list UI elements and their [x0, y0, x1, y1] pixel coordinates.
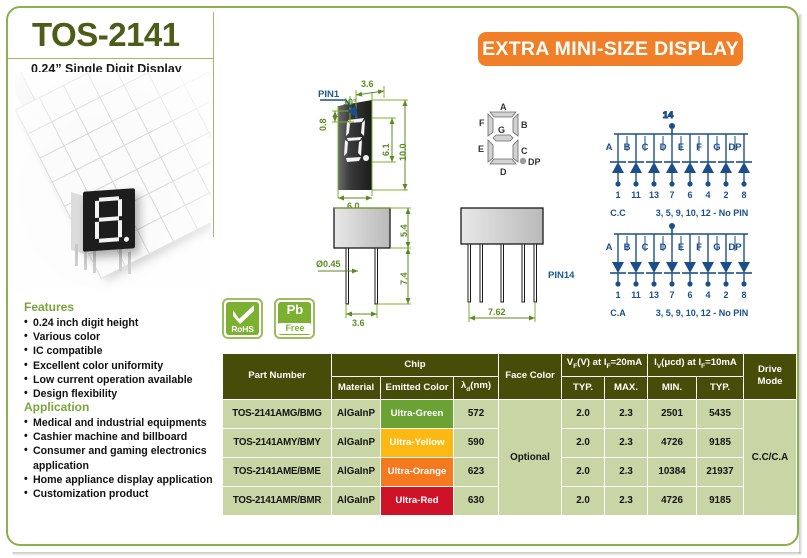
th-emitted-color: Emitted Color — [381, 377, 453, 399]
schematic-segment-label: A — [606, 142, 613, 153]
schematic-segment-label: B — [624, 242, 631, 253]
schematic-segment-label: B — [624, 142, 631, 153]
dim-5-4: 5.4 — [399, 224, 409, 237]
schematic-segment-label: F — [696, 242, 702, 253]
cell-part-number: TOS-2141AMR/BMR — [223, 487, 331, 515]
schematic-pin-number: 6 — [687, 290, 692, 300]
page-shadow-bottom — [12, 552, 801, 556]
schematic-pin-number: 11 — [631, 290, 641, 300]
schematic-pin-number: 7 — [669, 290, 674, 300]
schematic-segment-label: D — [660, 242, 667, 253]
list-item: IC compatible — [24, 344, 224, 358]
segment-label-e: E — [478, 144, 484, 154]
table-header-row-1: Part Number Chip Face Color VF(V) at IF=… — [223, 354, 796, 376]
title-divider-horizontal — [8, 58, 213, 59]
cell-vf-typ: 2.0 — [562, 487, 604, 515]
features-list: 0.24 inch digit height Various color IC … — [24, 316, 224, 401]
th-iv-min: MIN. — [648, 377, 696, 399]
dim-6-1: 6.1 — [381, 143, 391, 156]
schematic-pin-number: 13 — [649, 290, 659, 300]
schematic-pin-number: 11 — [631, 190, 641, 200]
segment-label-dp: DP — [528, 157, 541, 167]
schematic-mode-label: C.C — [610, 208, 626, 218]
cell-material: AlGaInP — [332, 458, 380, 486]
cell-part-number: TOS-2141AME/BME — [223, 458, 331, 486]
front-view: 3.6 0.8 6.1 10.0 6.0 PIN1 10° — [318, 79, 408, 211]
dim-3-6-top: 3.6 — [361, 79, 374, 89]
check-icon — [231, 305, 257, 324]
cell-material: AlGaInP — [332, 429, 380, 457]
schematic-segment-label: F — [696, 142, 702, 153]
cell-emitted-color: Ultra-Green — [381, 400, 453, 428]
schematic-pin-number: 4 — [705, 290, 710, 300]
list-item: application — [24, 459, 229, 473]
schematic-segment-label: DP — [728, 142, 742, 153]
schematic-pin-number: 7 — [669, 190, 674, 200]
cell-material: AlGaInP — [332, 487, 380, 515]
cell-vf-max: 2.3 — [605, 487, 647, 515]
schematic-common-anode: A1B11C13D7E6F4G2DP8C.A3, 5, 9, 10, 12 - … — [606, 223, 752, 318]
segment-label-g: G — [498, 125, 505, 135]
th-iv: IV(μcd) at IF=10mA — [648, 354, 743, 376]
schematic-pin-number: 1 — [615, 290, 620, 300]
pb-badge-top-label: Pb — [276, 303, 313, 316]
cc-common-pin: 14 — [663, 110, 674, 121]
page-shadow-right — [799, 14, 803, 554]
cell-iv-typ: 5435 — [697, 400, 743, 428]
specification-table: Part Number Chip Face Color VF(V) at IF=… — [222, 353, 786, 516]
cell-iv-typ: 21937 — [697, 458, 743, 486]
schematic-pin-number: 6 — [687, 190, 692, 200]
schematic-pin-number: 2 — [723, 290, 728, 300]
dim-angle-10: 10° — [343, 97, 357, 107]
th-vf: VF(V) at IF=20mA — [562, 354, 647, 376]
schematic-segment-label: E — [678, 142, 684, 153]
schematic-segment-label: C — [642, 142, 649, 153]
cell-iv-min: 10384 — [648, 458, 696, 486]
table-body: TOS-2141AMG/BMGAlGaInPUltra-Green572Opti… — [223, 400, 796, 515]
cell-emitted-color: Ultra-Red — [381, 487, 453, 515]
segment-label-c: C — [521, 146, 528, 156]
schematic-pin-number: 8 — [741, 190, 746, 200]
cell-emitted-color: Ultra-Orange — [381, 458, 453, 486]
th-drive-mode: Drive Mode — [744, 354, 796, 399]
cell-wavelength: 623 — [454, 458, 498, 486]
pb-free-badge: Pb Free — [274, 298, 315, 339]
schematic-no-pin-note: 3, 5, 9, 10, 12 - No PIN — [656, 308, 749, 318]
side-view: 5.4 7.4 Ø0.45 3.6 — [316, 208, 411, 328]
schematic-pin-number: 2 — [723, 190, 728, 200]
cell-vf-max: 2.3 — [605, 400, 647, 428]
schematic-segment-label: DP — [728, 242, 742, 253]
dim-3-6-pitch: 3.6 — [352, 318, 365, 328]
schematic-mode-label: C.A — [610, 308, 626, 318]
th-vf-typ: TYP. — [562, 377, 604, 399]
cell-iv-min: 4726 — [648, 487, 696, 515]
schematic-canvas: 14 A1B11C13D7E6F4G2DP8C.C3, 5, 9, 10, 12… — [592, 108, 797, 338]
cell-vf-max: 2.3 — [605, 429, 647, 457]
th-chip: Chip — [332, 354, 498, 376]
cell-wavelength: 630 — [454, 487, 498, 515]
cell-wavelength: 590 — [454, 429, 498, 457]
application-heading: Application — [24, 400, 229, 414]
cell-material: AlGaInP — [332, 400, 380, 428]
schematic-segment-label: A — [606, 242, 613, 253]
banner-label: EXTRA MINI-SIZE DISPLAY — [478, 32, 743, 66]
features-heading: Features — [24, 300, 224, 314]
pin14-label: PIN14 — [548, 270, 575, 281]
schematic-segment-label: C — [642, 242, 649, 253]
segment-map: A B C D E F G DP — [478, 102, 541, 177]
product-photo — [15, 72, 211, 294]
page-title: TOS-2141 — [32, 16, 180, 54]
cell-vf-typ: 2.0 — [562, 400, 604, 428]
schematic-segment-label: G — [713, 142, 720, 153]
dim-7-4: 7.4 — [399, 272, 409, 285]
dim-lead-diameter: Ø0.45 — [316, 259, 341, 269]
cell-iv-min: 2501 — [648, 400, 696, 428]
dim-7-62: 7.62 — [488, 307, 506, 317]
schematic-pin-number: 4 — [705, 190, 710, 200]
segment-label-d: D — [500, 167, 507, 177]
cell-face-color: Optional — [499, 400, 561, 515]
list-item: Customization product — [24, 487, 229, 501]
cell-iv-typ: 9185 — [697, 487, 743, 515]
dim-0-8: 0.8 — [318, 118, 328, 131]
list-item: Medical and industrial equipments — [24, 416, 229, 430]
bottom-view: PIN14 7.62 — [461, 208, 575, 322]
panel-divider-vertical — [213, 12, 214, 237]
cell-iv-min: 4726 — [648, 429, 696, 457]
product-banner: EXTRA MINI-SIZE DISPLAY — [478, 32, 743, 66]
schematic-pin-number: 1 — [615, 190, 620, 200]
th-iv-typ: TYP. — [697, 377, 743, 399]
spec-table: Part Number Chip Face Color VF(V) at IF=… — [222, 353, 797, 516]
rohs-badge-label: RoHS — [224, 324, 261, 334]
schematic-segment-label: E — [678, 242, 684, 253]
list-item: Various color — [24, 330, 224, 344]
mechanical-drawings: 3.6 0.8 6.1 10.0 6.0 PIN1 10° — [316, 78, 586, 343]
schematic-pin-number: 8 — [741, 290, 746, 300]
schematic-pin-number: 13 — [649, 190, 659, 200]
cell-part-number: TOS-2141AMY/BMY — [223, 429, 331, 457]
photo-vignette — [15, 72, 211, 294]
cell-wavelength: 572 — [454, 400, 498, 428]
segment-label-a: A — [500, 102, 507, 112]
list-item: Low current operation available — [24, 373, 224, 387]
features-section: Features 0.24 inch digit height Various … — [24, 300, 224, 401]
rohs-badge: RoHS — [222, 298, 263, 339]
list-item: Home appliance display application — [24, 473, 229, 487]
th-vf-max: MAX. — [605, 377, 647, 399]
th-face-color: Face Color — [499, 354, 561, 399]
schematic-no-pin-note: 3, 5, 9, 10, 12 - No PIN — [656, 208, 749, 218]
segment-label-b: B — [521, 120, 528, 130]
schematic-segment-label: D — [660, 142, 667, 153]
schematic-segment-label: G — [713, 242, 720, 253]
cell-vf-max: 2.3 — [605, 458, 647, 486]
th-part-number: Part Number — [223, 354, 331, 399]
list-item: Consumer and gaming electronics — [24, 444, 229, 458]
schematic-common-cathode: 14 A1B11C13D7E6F4G2DP8C.C3, 5, 9, 10, 12… — [606, 110, 752, 218]
application-list: Medical and industrial equipments Cashie… — [24, 416, 229, 501]
cell-emitted-color: Ultra-Yellow — [381, 429, 453, 457]
circuit-schematics: 14 A1B11C13D7E6F4G2DP8C.C3, 5, 9, 10, 12… — [592, 108, 797, 338]
cell-part-number: TOS-2141AMG/BMG — [223, 400, 331, 428]
drawing-canvas: 3.6 0.8 6.1 10.0 6.0 PIN1 10° — [316, 78, 586, 343]
cell-vf-typ: 2.0 — [562, 458, 604, 486]
compliance-badges: RoHS Pb Free — [222, 298, 322, 339]
cell-iv-typ: 9185 — [697, 429, 743, 457]
pb-badge-bottom-label: Free — [278, 323, 311, 334]
segment-label-f: F — [479, 118, 485, 128]
application-section: Application Medical and industrial equip… — [24, 400, 229, 501]
datasheet-page: TOS-2141 0.24” Single Digit Display EXTR… — [0, 0, 807, 558]
dim-10-0: 10.0 — [398, 143, 408, 161]
th-wavelength: λd(nm) — [454, 377, 498, 399]
list-item: Excellent color uniformity — [24, 359, 224, 373]
list-item: Cashier machine and billboard — [24, 430, 229, 444]
th-material: Material — [332, 377, 380, 399]
table-row: TOS-2141AMG/BMGAlGaInPUltra-Green572Opti… — [223, 400, 796, 428]
pin1-label: PIN1 — [318, 89, 340, 100]
list-item: 0.24 inch digit height — [24, 316, 224, 330]
cell-drive-mode: C.C/C.A — [744, 400, 796, 515]
cell-vf-typ: 2.0 — [562, 429, 604, 457]
